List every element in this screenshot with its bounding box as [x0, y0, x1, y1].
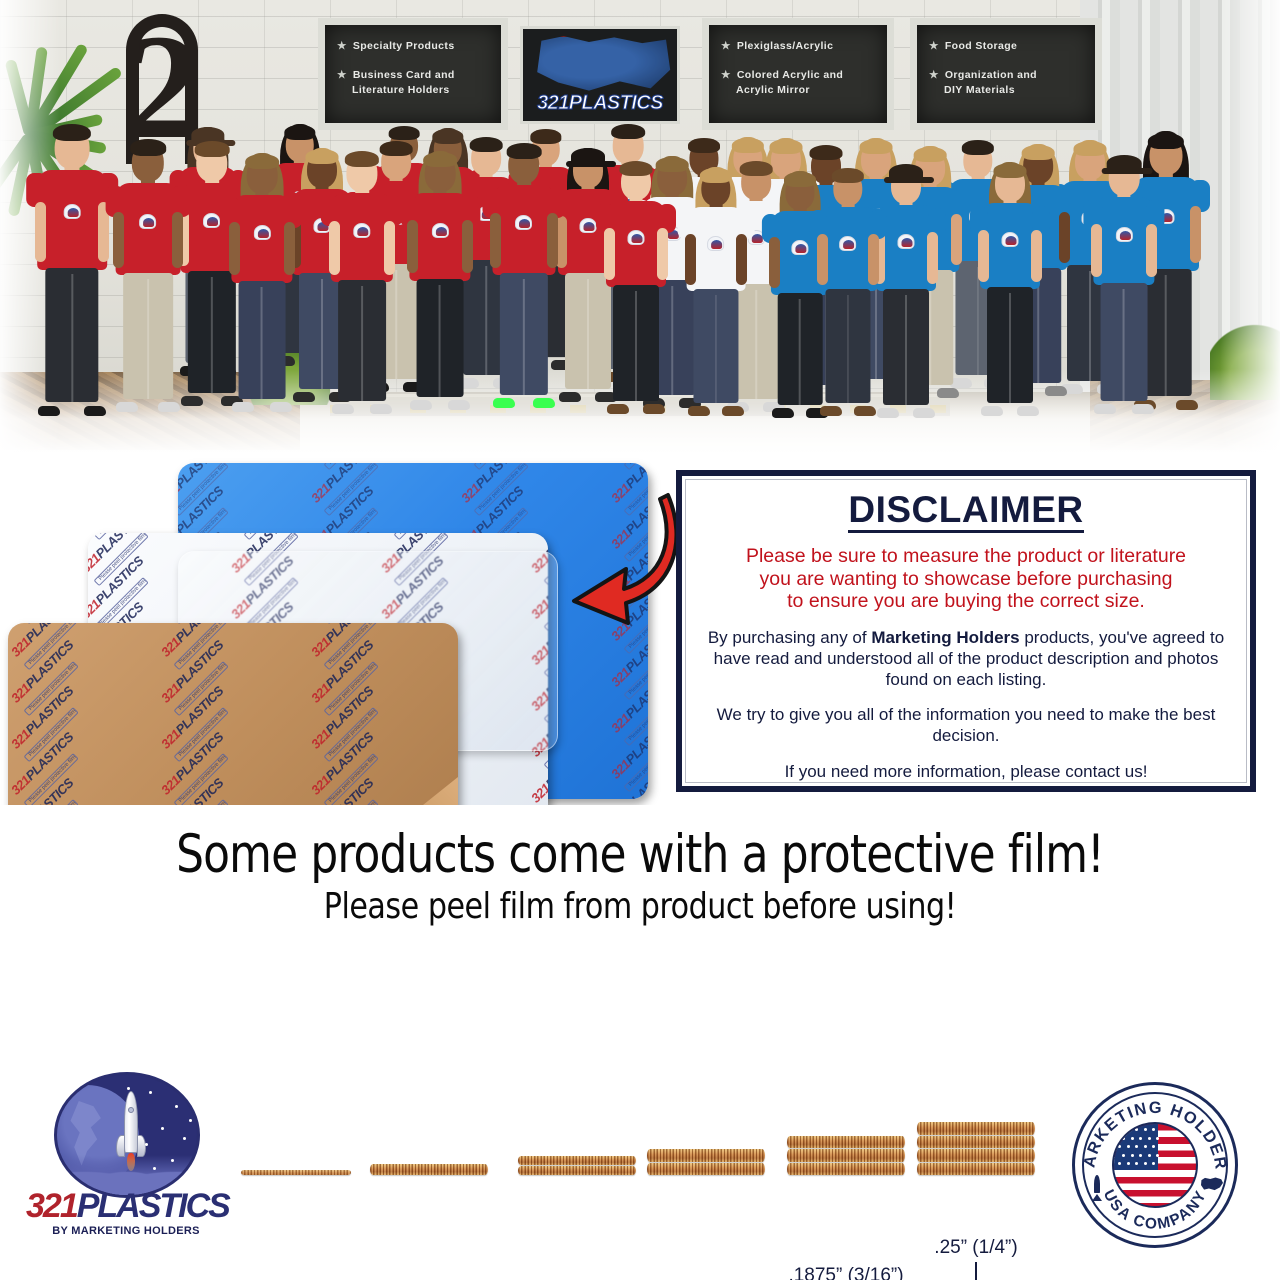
shoe-right: [84, 406, 106, 416]
penny-coin: [787, 1149, 905, 1161]
kraft-sheet-watermark: 321PLASTICSPlease peel protective film32…: [8, 623, 458, 805]
penny-measurement-label: .1875” (3/16”): [788, 1266, 903, 1280]
shirt-logo: [515, 215, 532, 230]
hair-top: [784, 172, 816, 187]
penny-stack: [241, 1170, 351, 1175]
flag-canton: [1114, 1124, 1158, 1170]
employee-figure: [328, 148, 397, 406]
pants: [825, 289, 870, 403]
hair-top: [1148, 133, 1184, 150]
hair-top: [620, 161, 653, 176]
shoe-right: [533, 398, 555, 408]
employee-figure: [1090, 153, 1157, 406]
penny-coin: [518, 1166, 636, 1175]
kraft-protective-sheet: 321PLASTICSPlease peel protective film32…: [8, 623, 458, 805]
shoe-left: [820, 406, 842, 416]
arm-right: [1146, 224, 1157, 277]
pants: [883, 289, 929, 405]
arm-left: [329, 221, 340, 275]
disclaimer-warning: Please be sure to measure the product or…: [746, 545, 1186, 613]
shoe-right: [270, 402, 292, 412]
hair-top: [53, 124, 91, 141]
arm-right: [868, 234, 879, 285]
pants: [500, 273, 548, 395]
hair-top: [130, 139, 166, 155]
hair-top: [345, 151, 379, 167]
shoe-right: [913, 408, 935, 418]
penny-coin: [518, 1156, 636, 1165]
disclaimer-paragraph-1: By purchasing any of Marketing Holders p…: [704, 628, 1228, 690]
shoe-left: [332, 404, 354, 414]
pants: [1101, 283, 1148, 401]
penny-measurement-label: .25” (1/4”): [934, 1238, 1017, 1257]
shoe-right: [643, 404, 665, 414]
penny-coin: [917, 1149, 1035, 1162]
page-subtitle: Please peel film from product before usi…: [45, 886, 1235, 927]
penny-stack: [647, 1149, 765, 1175]
shirt-logo: [353, 223, 370, 238]
penny-stack: [518, 1156, 636, 1175]
employee-figure: [816, 165, 881, 408]
employee-figure: [112, 136, 183, 404]
arm-right: [657, 228, 668, 280]
shoe-right: [722, 406, 744, 416]
penny-coin: [370, 1164, 488, 1175]
penny-coin: [917, 1163, 1035, 1176]
penny-stack: [370, 1164, 488, 1175]
arm-left: [769, 237, 780, 287]
hair-top: [507, 143, 542, 159]
hair-top: [810, 145, 843, 160]
shoe-left: [559, 392, 581, 402]
hair-top: [700, 168, 732, 183]
arm-left: [407, 220, 418, 273]
penny-coin: [647, 1163, 765, 1176]
star-icon: ★: [721, 40, 731, 52]
arm-right: [284, 222, 295, 275]
hair-top: [962, 140, 994, 155]
employee-figure: [489, 140, 558, 400]
hair-top: [832, 168, 864, 183]
protective-film-illustration: 321PLASTICSPlease peel protective film32…: [0, 455, 676, 805]
arm-right: [1059, 212, 1070, 263]
hair-top: [994, 163, 1027, 178]
shoe-right: [1045, 386, 1067, 396]
arm-left: [685, 234, 696, 285]
arm-left: [490, 213, 501, 268]
arm-right: [1190, 206, 1201, 263]
employee-figure: [873, 162, 939, 410]
hair-top: [1022, 145, 1055, 160]
shoe-left: [293, 392, 315, 402]
pants: [613, 285, 659, 401]
employee-figure: [228, 151, 295, 404]
logo-badge-circle: [54, 1072, 200, 1198]
employee-group: [0, 60, 1280, 420]
employee-figure: [977, 160, 1043, 408]
shirt-logo: [203, 213, 220, 228]
shoe-left: [772, 408, 794, 418]
arm-right: [547, 213, 558, 268]
employee-figure: [406, 149, 473, 402]
arm-left: [113, 212, 124, 268]
hair-top: [195, 141, 230, 157]
shoe-left: [181, 396, 203, 406]
logo-321-wordmark: 321PLASTICS: [26, 1189, 226, 1223]
penny-coin: [917, 1122, 1035, 1135]
flyer-page: 2 ★Specialty Products ★Business Card and…: [0, 0, 1280, 1280]
shoe-left: [607, 404, 629, 414]
cap: [1107, 155, 1142, 171]
arm-left: [978, 230, 989, 282]
arm-right: [384, 221, 395, 275]
shirt: [116, 183, 181, 276]
shirt: [37, 170, 107, 270]
shoe-left: [1094, 404, 1116, 414]
penny-coin: [787, 1163, 905, 1175]
shirt-logo: [63, 204, 80, 219]
shoe-left: [410, 400, 432, 410]
shoe-left: [981, 406, 1003, 416]
arm-left: [1091, 224, 1102, 277]
arm-left: [604, 228, 615, 280]
disclaimer-paragraph-3: If you need more information, please con…: [785, 762, 1148, 783]
arm-left: [35, 202, 46, 262]
logo-brand-word: PLASTICS: [77, 1187, 229, 1225]
hair-top: [688, 138, 720, 153]
shirt-logo: [431, 223, 448, 238]
arm-right: [951, 214, 962, 265]
shoe-left: [38, 406, 60, 416]
penny-stack: [787, 1136, 905, 1175]
shirt-logo: [898, 234, 915, 249]
seal-rocket-icon: [1091, 1175, 1103, 1201]
hair-top: [284, 125, 315, 139]
page-title: Some products come with a protective fil…: [51, 824, 1229, 885]
shoe-left: [116, 402, 138, 412]
cap: [571, 148, 605, 164]
shoe-right: [448, 400, 470, 410]
hair-top: [914, 147, 947, 162]
shoe-left: [688, 406, 710, 416]
star-icon: ★: [929, 40, 939, 52]
shoe-right: [158, 402, 180, 412]
sign1-line1: ★Specialty Products: [337, 39, 455, 54]
penny-coin: [787, 1136, 905, 1148]
hair-top: [611, 124, 645, 139]
shirt-logo: [1115, 227, 1132, 242]
penny-coin: [647, 1149, 765, 1162]
pants: [417, 279, 464, 397]
shoe-right: [1176, 400, 1198, 410]
shoe-left: [493, 398, 515, 408]
logo-marketing-holders-seal: MARKETING HOLDERS USA COMPANY: [1072, 1082, 1238, 1248]
disclaimer-paragraph-2: We try to give you all of the informatio…: [704, 705, 1228, 746]
shoe-right: [370, 404, 392, 414]
pants: [45, 268, 98, 403]
arm-right: [736, 234, 747, 285]
pants: [693, 289, 738, 403]
warning-line-3: to ensure you are buying the correct siz…: [746, 590, 1186, 613]
cap: [889, 164, 923, 180]
pants: [123, 273, 173, 398]
shoe-right: [1017, 406, 1039, 416]
employee-figure: [34, 120, 111, 408]
disclaimer-box: DISCLAIMER Please be sure to measure the…: [676, 470, 1256, 792]
warning-line-1: Please be sure to measure the product or…: [746, 545, 1186, 568]
peel-direction-arrow: [556, 485, 676, 625]
shoe-right: [937, 388, 959, 398]
shirt-logo: [1002, 232, 1019, 247]
penny-leader-line: [975, 1262, 977, 1280]
arm-left: [229, 222, 240, 275]
para1-pre: By purchasing any of: [708, 628, 871, 647]
warning-line-2: you are wanting to showcase before purch…: [746, 568, 1186, 591]
shoe-right: [854, 406, 876, 416]
penny-coin: [917, 1136, 1035, 1149]
brand-name: Marketing Holders: [871, 628, 1019, 647]
sign3-line1: ★Food Storage: [929, 39, 1037, 54]
shirt-logo: [707, 236, 724, 251]
star-icon: ★: [337, 40, 347, 52]
pants: [987, 287, 1033, 403]
arm-right: [172, 212, 183, 268]
hair-top: [423, 152, 457, 167]
pants: [338, 280, 386, 401]
hair-top: [860, 139, 893, 154]
team-group-photo: 2 ★Specialty Products ★Business Card and…: [0, 0, 1280, 455]
shirt-logo: [580, 218, 597, 233]
hair-top: [245, 154, 279, 169]
logo-brand-num: 321: [26, 1187, 77, 1225]
shirt-logo: [253, 225, 270, 240]
arm-left: [817, 234, 828, 285]
shoe-right: [1132, 404, 1154, 414]
sign2-line1: ★Plexiglass/Acrylic: [721, 39, 843, 54]
shirt-logo: [839, 236, 856, 251]
disclaimer-title: DISCLAIMER: [848, 490, 1083, 533]
penny-coin: [241, 1170, 351, 1175]
arm-right: [927, 232, 938, 284]
arm-right: [462, 220, 473, 273]
employee-figure: [684, 165, 749, 408]
employee-figure: [603, 158, 669, 406]
penny-stack: [917, 1122, 1035, 1175]
arm-right: [1031, 230, 1042, 282]
usa-flag-icon: [1112, 1122, 1198, 1208]
shoe-left: [232, 402, 254, 412]
pants: [239, 281, 286, 399]
shoe-left: [877, 408, 899, 418]
shirt-logo: [139, 214, 156, 229]
logo-tagline: BY MARKETING HOLDERS: [26, 1225, 226, 1237]
shirt-logo: [628, 230, 645, 245]
shirt-logo: [791, 240, 808, 255]
logo-321-plastics: 321PLASTICS BY MARKETING HOLDERS: [26, 1072, 226, 1247]
